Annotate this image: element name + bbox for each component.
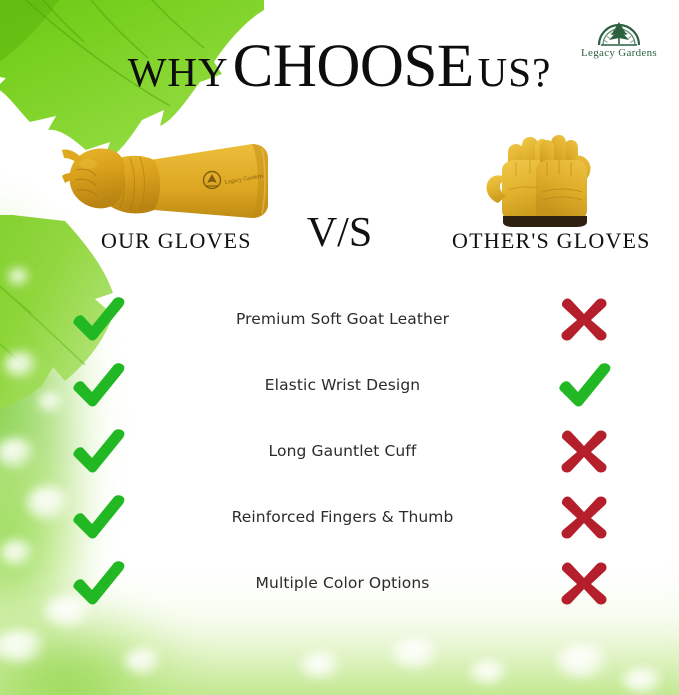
brand-name: Legacy Gardens [573,47,665,59]
bokeh-spot [470,660,510,684]
bokeh-spot [124,648,164,674]
brand-logo[interactable]: Legacy Gardens [573,16,665,59]
green-check-icon [557,362,611,408]
bokeh-spot [300,652,344,678]
table-row: Long Gauntlet Cuff [0,418,679,484]
feature-label: Elastic Wrist Design [196,375,489,395]
feature-label: Premium Soft Goat Leather [196,309,489,329]
why-choose-us-infographic: Legacy Gardens WHYCHOOSEUS? [0,0,679,695]
feature-label: Reinforced Fingers & Thumb [196,507,489,527]
green-check-icon [71,362,125,408]
column-label-others: OTHER'S GLOVES [452,228,651,254]
bokeh-spot [556,644,612,678]
ours-mark-cell [0,362,196,408]
title-why: WHY [128,49,229,95]
ours-mark-cell [0,296,196,342]
bokeh-spot [0,630,50,662]
red-cross-icon [559,297,609,341]
bokeh-spot [8,268,30,286]
bokeh-spot [392,638,442,668]
others-mark-cell [489,362,679,408]
others-mark-cell [489,561,679,605]
ours-mark-cell [0,494,196,540]
red-cross-icon [559,561,609,605]
arch-plant-emblem-icon [596,16,642,46]
table-row: Multiple Color Options [0,550,679,616]
green-check-icon [71,560,125,606]
table-row: Reinforced Fingers & Thumb [0,484,679,550]
others-mark-cell [489,429,679,473]
feature-label: Long Gauntlet Cuff [196,441,489,461]
bokeh-spot [622,668,666,692]
feature-label: Multiple Color Options [196,573,489,593]
others-mark-cell [489,495,679,539]
ours-mark-cell [0,560,196,606]
green-check-icon [71,494,125,540]
green-check-icon [71,428,125,474]
title-us: US? [478,49,552,95]
green-check-icon [71,296,125,342]
title-choose: CHOOSE [233,33,474,100]
ours-mark-cell [0,428,196,474]
red-cross-icon [559,429,609,473]
comparison-table: Premium Soft Goat LeatherElastic Wrist D… [0,286,679,616]
red-cross-icon [559,495,609,539]
table-row: Premium Soft Goat Leather [0,286,679,352]
table-row: Elastic Wrist Design [0,352,679,418]
others-mark-cell [489,297,679,341]
